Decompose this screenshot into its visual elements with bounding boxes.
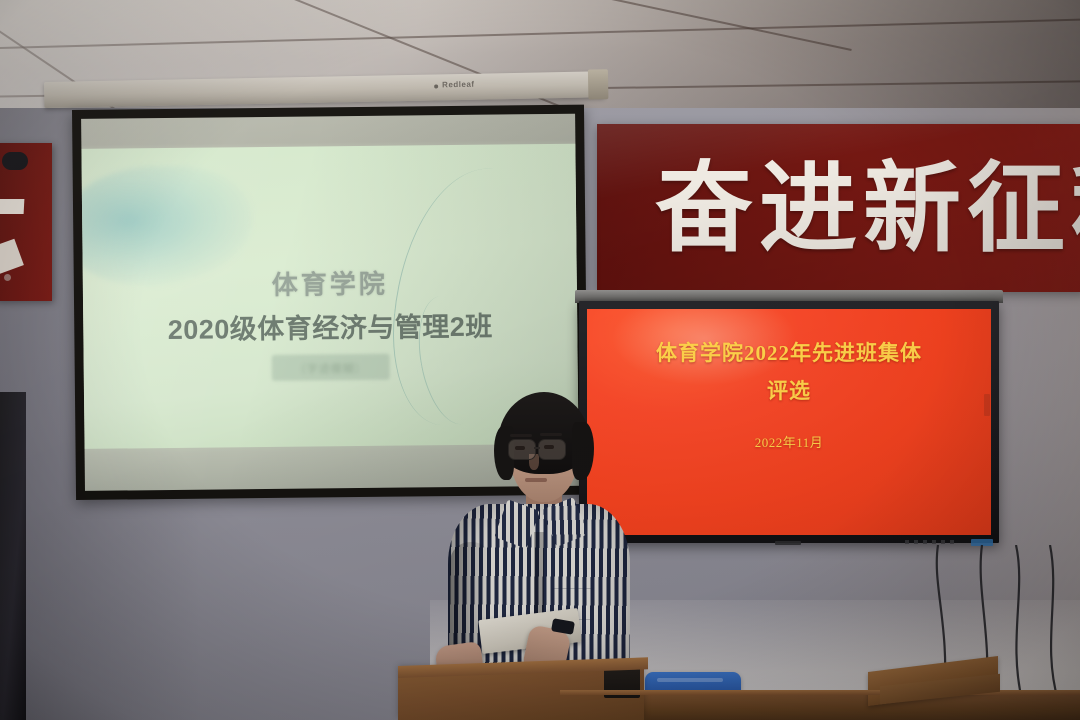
slide-title: 体育学院 bbox=[83, 262, 577, 304]
brand-dot-icon bbox=[434, 84, 438, 88]
wall-banner: 奋进新征程 bbox=[597, 124, 1080, 292]
tv-bezel: 体育学院2022年先进班集体 评选 2022年11月 bbox=[579, 301, 999, 543]
slide-badge-text: （字迹模糊） bbox=[272, 360, 390, 377]
presenter bbox=[430, 392, 640, 692]
left-equipment bbox=[0, 392, 26, 720]
tv-screen: 体育学院2022年先进班集体 评选 2022年11月 bbox=[587, 309, 991, 535]
slide-blurred-badge: （字迹模糊） bbox=[272, 354, 390, 381]
slide-subtitle: 2020级体育经济与管理2班 bbox=[83, 304, 577, 348]
tv-button-row[interactable] bbox=[905, 540, 959, 544]
ir-sensor-icon bbox=[775, 541, 801, 545]
classroom-photo: 奋进新征程 Redleaf 体育学院 2020级体育经济与管理2班 （字迹模糊） bbox=[0, 0, 1080, 720]
tv-title-line-1: 体育学院2022年先进班集体 bbox=[587, 337, 991, 367]
tv-date-line: 2022年11月 bbox=[587, 432, 991, 451]
equipment-knob-icon[interactable] bbox=[2, 152, 28, 170]
tv-title-line-2: 评选 bbox=[587, 375, 991, 405]
housing-brand-label: Redleaf bbox=[442, 80, 475, 90]
tv-side-indicator bbox=[984, 394, 990, 416]
glasses-icon-right bbox=[538, 439, 566, 460]
equipment-indicator-icon bbox=[4, 274, 11, 281]
